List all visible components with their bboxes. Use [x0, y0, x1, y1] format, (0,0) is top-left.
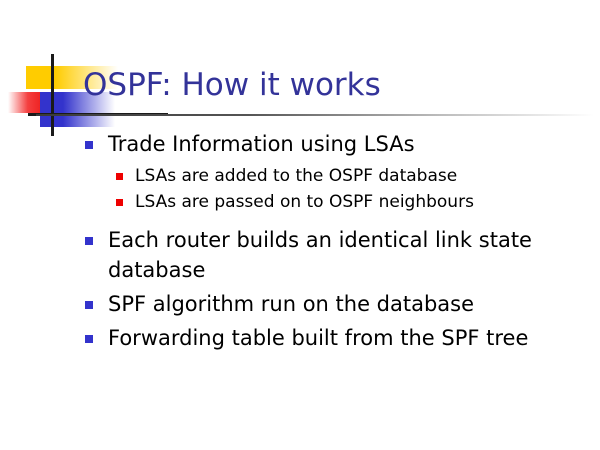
- list-item-label: SPF algorithm run on the database: [108, 289, 474, 319]
- list-item: LSAs are added to the OSPF database: [0, 163, 600, 189]
- bullet-square-icon: [85, 237, 93, 245]
- bullet-square-icon: [85, 301, 93, 309]
- list-item: SPF algorithm run on the database: [0, 289, 600, 319]
- slide-canvas: { "slide": { "title": "OSPF: How it work…: [0, 0, 600, 450]
- bullet-list: Trade Information using LSAs LSAs are ad…: [0, 129, 600, 353]
- list-item: Each router builds an identical link sta…: [0, 225, 600, 285]
- list-item-label: Trade Information using LSAs: [108, 129, 415, 159]
- list-item: Trade Information using LSAs: [0, 129, 600, 159]
- list-item: Forwarding table built from the SPF tree: [0, 323, 600, 353]
- bullet-square-icon: [85, 141, 93, 149]
- list-item-label: Each router builds an identical link sta…: [108, 225, 600, 285]
- title-divider: [36, 114, 594, 116]
- bullet-square-icon: [116, 173, 123, 180]
- page-title: OSPF: How it works: [83, 67, 381, 103]
- logo-vertical-line: [51, 54, 54, 136]
- list-item-label: Forwarding table built from the SPF tree: [108, 323, 528, 353]
- bullet-square-icon: [116, 199, 123, 206]
- list-item-label: LSAs are added to the OSPF database: [135, 163, 457, 189]
- bullet-square-icon: [85, 335, 93, 343]
- logo-red-square: [8, 92, 41, 113]
- list-item: LSAs are passed on to OSPF neighbours: [0, 189, 600, 215]
- spacer: [0, 215, 600, 225]
- list-item-label: LSAs are passed on to OSPF neighbours: [135, 189, 474, 215]
